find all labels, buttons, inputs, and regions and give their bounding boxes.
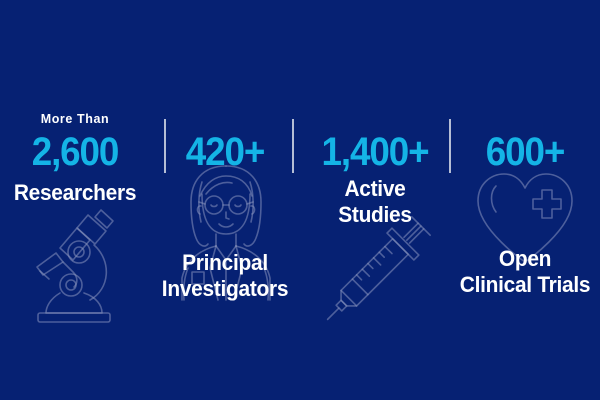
stat-eyebrow: More Than — [0, 112, 150, 126]
stat-card-principal-investigators: 420+ Principal Investigators — [150, 0, 300, 400]
stats-row: More Than 2,600 Researchers — [0, 0, 600, 400]
stat-caption-line: Investigators — [148, 276, 302, 302]
stat-caption: Principal Investigators — [148, 250, 302, 302]
stats-banner: More Than 2,600 Researchers — [0, 0, 600, 400]
stat-caption-line: Researchers — [0, 180, 152, 206]
stat-divider — [164, 119, 166, 173]
stat-card-active-studies: 1,400+ Active Studies — [300, 0, 450, 400]
stat-caption: Open Clinical Trials — [448, 246, 600, 298]
stat-caption-line: Clinical Trials — [448, 272, 600, 298]
microscope-icon — [16, 205, 134, 323]
stat-card-open-clinical-trials: 600+ Open Clinical Trials — [450, 0, 600, 400]
stat-value: 420+ — [156, 130, 294, 174]
stat-caption-line: Active — [298, 176, 452, 202]
stat-value: 1,400+ — [306, 130, 444, 174]
stat-caption: Active Studies — [298, 176, 452, 228]
stat-caption: Researchers — [0, 180, 152, 206]
stat-divider — [449, 119, 451, 173]
stat-value: 600+ — [456, 130, 594, 174]
stat-value: 2,600 — [6, 130, 144, 174]
stat-caption-line: Principal — [148, 250, 302, 276]
stat-card-researchers: More Than 2,600 Researchers — [0, 0, 150, 400]
stat-divider — [292, 119, 294, 173]
stat-caption-line: Studies — [298, 202, 452, 228]
stat-caption-line: Open — [448, 246, 600, 272]
